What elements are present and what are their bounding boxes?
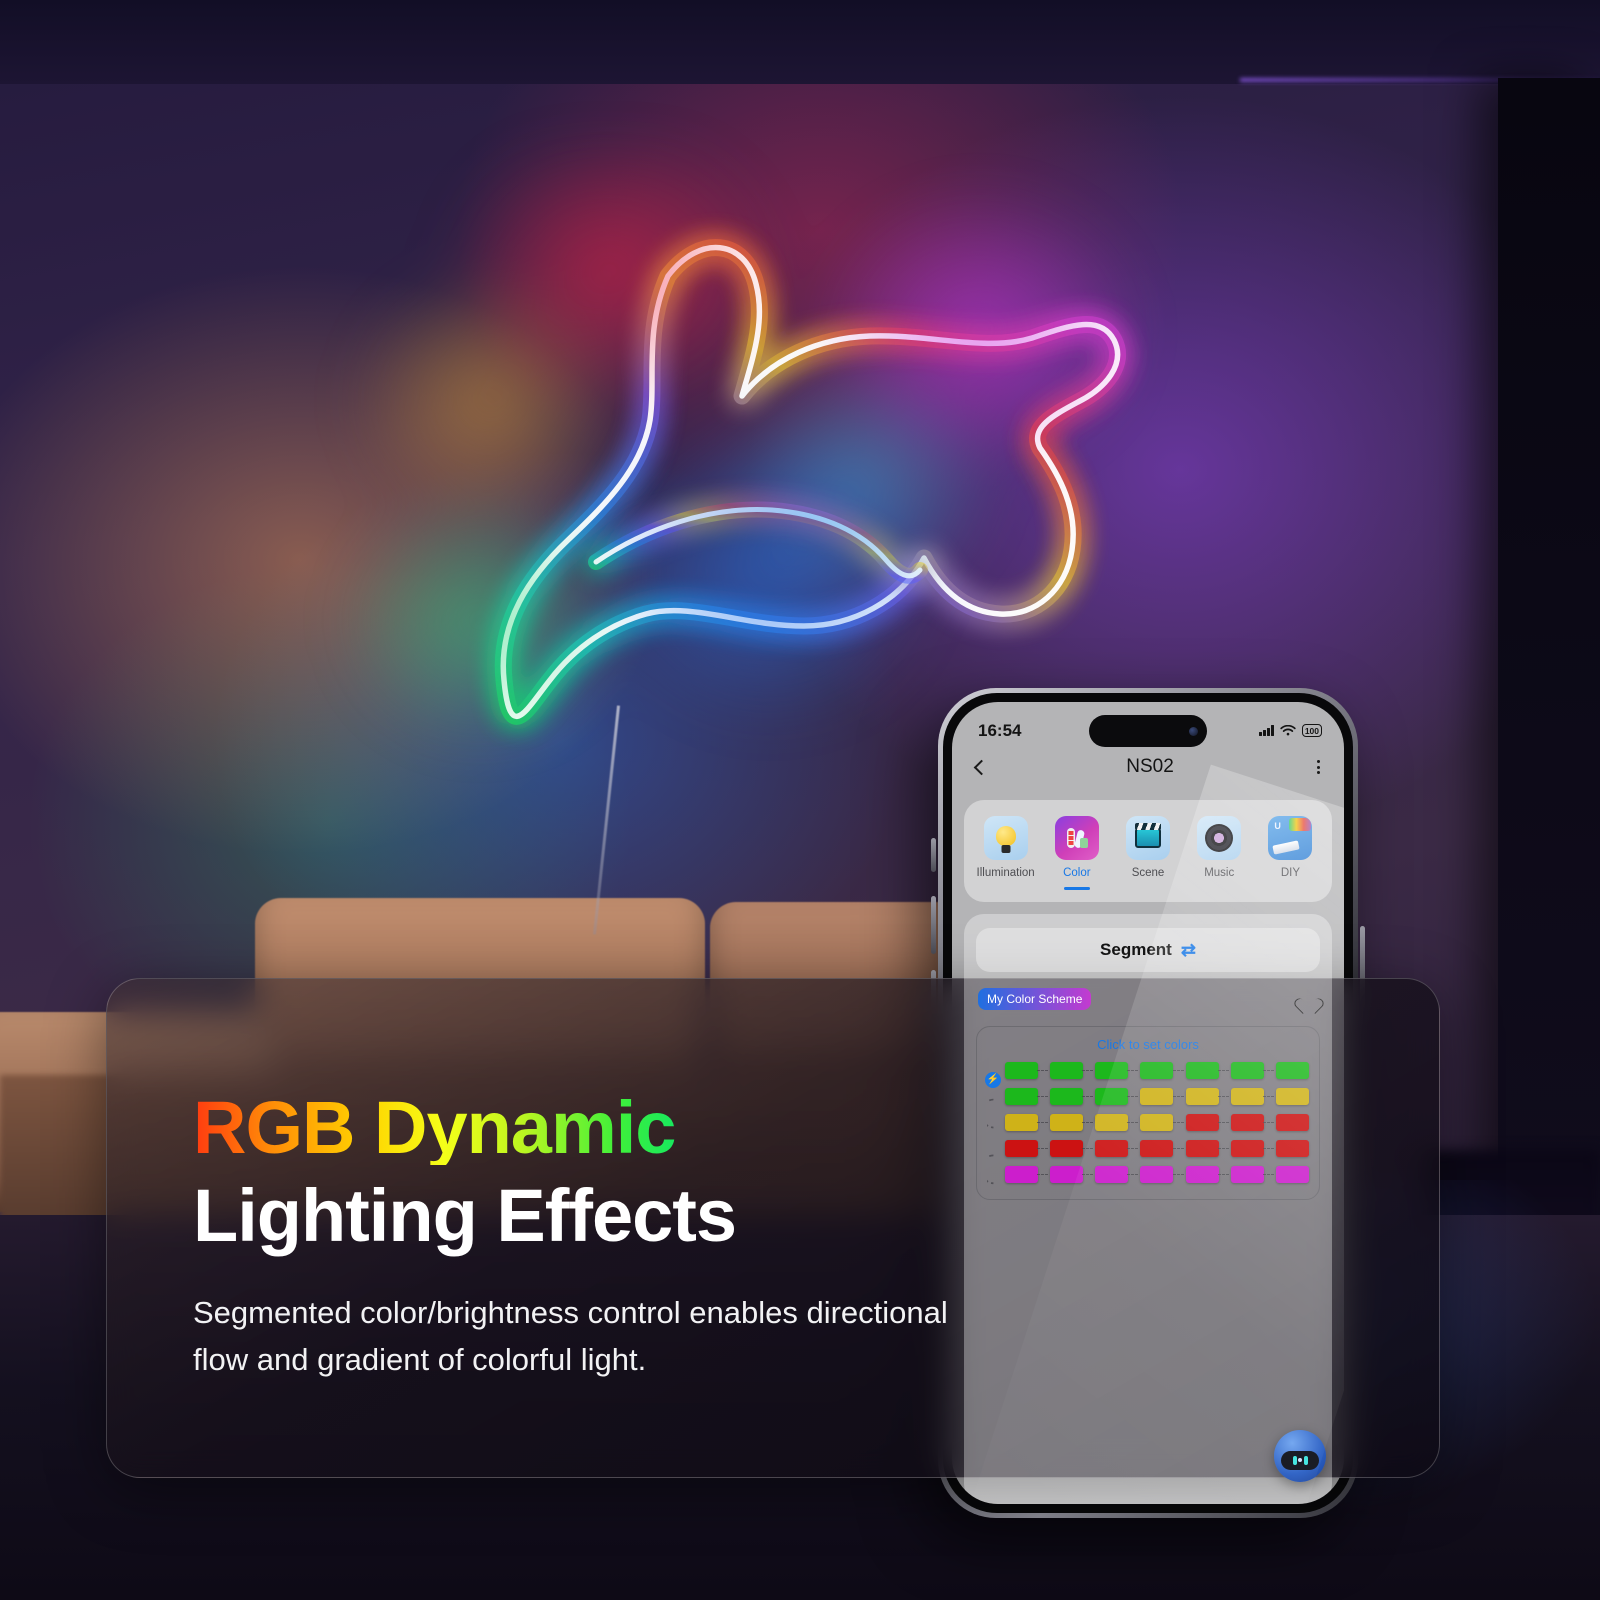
mode-item-diy[interactable]: U DIY [1255,816,1326,879]
mode-label: Scene [1132,867,1165,879]
mode-label: Illumination [977,867,1035,879]
segment-cell[interactable] [1140,1062,1173,1079]
segment-cell[interactable] [1095,1088,1128,1105]
segment-grid-row [1005,1114,1309,1131]
marketing-subtext: Segmented color/brightness control enabl… [193,1289,953,1383]
segment-cell[interactable] [1005,1166,1038,1183]
segment-cell[interactable] [1186,1166,1219,1183]
segment-cell[interactable] [1186,1088,1219,1105]
ceiling [0,0,1600,84]
segment-cell[interactable] [1186,1062,1219,1079]
kebab-menu-icon[interactable] [1313,756,1324,778]
wifi-icon [1280,725,1296,737]
battery-icon: 100 [1302,724,1322,737]
segment-toggle-button[interactable]: Segment ⇄ [976,928,1320,972]
mode-item-illumination[interactable]: Illumination [970,816,1041,879]
segment-cell[interactable] [1140,1088,1173,1105]
segment-cell[interactable] [1095,1140,1128,1157]
phone-mockup: 16:54 100 [938,688,1358,1518]
light-bulb-icon [984,816,1028,860]
ai-assistant-robot-icon[interactable] [1274,1430,1326,1482]
scheme-row: My Color Scheme [976,988,1320,1010]
mute-switch[interactable] [931,838,936,872]
segment-grid-row [1005,1140,1309,1157]
segment-cell[interactable] [1231,1166,1264,1183]
segment-cell[interactable] [1276,1166,1309,1183]
mode-selector-card: Illumination [964,800,1332,902]
color-grid-panel: Click to set colors ⚡ [976,1026,1320,1200]
mode-item-music[interactable]: Music [1184,816,1255,879]
segment-cell[interactable] [1050,1062,1083,1079]
segment-cell[interactable] [1095,1166,1128,1183]
segment-cell[interactable] [1140,1114,1173,1131]
volume-up-button[interactable] [931,896,936,954]
phone-body: 16:54 100 [943,693,1353,1513]
segment-cell[interactable] [1276,1088,1309,1105]
segment-cell[interactable] [1050,1166,1083,1183]
mode-item-scene[interactable]: Scene [1112,816,1183,879]
dark-wall-panel [1498,78,1600,1218]
battery-level: 100 [1305,726,1319,736]
segment-cell[interactable] [1186,1114,1219,1131]
page-title: NS02 [1126,756,1174,778]
segment-cell[interactable] [1005,1062,1038,1079]
segment-grid-row [1005,1088,1309,1105]
segment-cell[interactable] [1095,1114,1128,1131]
swap-arrows-icon: ⇄ [1181,941,1196,959]
segment-cell[interactable] [1231,1088,1264,1105]
segment-cell[interactable] [1231,1140,1264,1157]
front-camera-icon [1189,727,1198,736]
segment-grid-row [1005,1166,1309,1183]
mode-row: Illumination [970,816,1326,890]
headline-primary: RGB Dynamic [193,1091,675,1165]
mode-label: Music [1204,867,1234,879]
segment-cell[interactable] [1095,1062,1128,1079]
phone-screen[interactable]: 16:54 100 [952,702,1344,1504]
vinyl-record-icon [1197,816,1241,860]
clapperboard-icon [1126,816,1170,860]
chevron-left-icon[interactable] [974,759,990,775]
mode-item-color[interactable]: Color [1041,816,1112,890]
segment-cell[interactable] [1005,1088,1038,1105]
dynamic-island [1089,715,1207,747]
segment-grid-row [1005,1062,1309,1079]
lightning-bolt-icon: ⚡ [985,1072,1001,1088]
segment-label: Segment [1100,940,1172,960]
segment-cell[interactable] [1276,1062,1309,1079]
segment-cell[interactable] [1140,1166,1173,1183]
segment-cell[interactable] [1276,1114,1309,1131]
segment-cell[interactable] [1050,1140,1083,1157]
color-scheme-pill[interactable]: My Color Scheme [978,988,1091,1010]
segment-cell[interactable] [1005,1140,1038,1157]
mode-label: Color [1063,867,1090,879]
cellular-signal-icon [1259,725,1274,736]
segment-cell[interactable] [1050,1088,1083,1105]
heart-outline-icon[interactable] [1299,989,1318,1008]
grid-hint-label: Click to set colors [987,1037,1309,1052]
color-content-card: Segment ⇄ My Color Scheme Click to set c… [964,914,1332,1505]
segment-grid[interactable]: ⚡ [987,1062,1309,1183]
segment-cell[interactable] [1231,1062,1264,1079]
segment-cell[interactable] [1186,1140,1219,1157]
segment-cell[interactable] [1005,1114,1038,1131]
segment-cell[interactable] [1140,1140,1173,1157]
status-time: 16:54 [978,721,1021,741]
segment-cell[interactable] [1276,1140,1309,1157]
mode-label: DIY [1281,867,1300,879]
segment-cell[interactable] [1050,1114,1083,1131]
segment-cell[interactable] [1231,1114,1264,1131]
nav-bar: NS02 [952,746,1344,792]
color-palette-icon [1055,816,1099,860]
paint-brush-icon: U [1268,816,1312,860]
active-tab-underline [1064,887,1090,890]
